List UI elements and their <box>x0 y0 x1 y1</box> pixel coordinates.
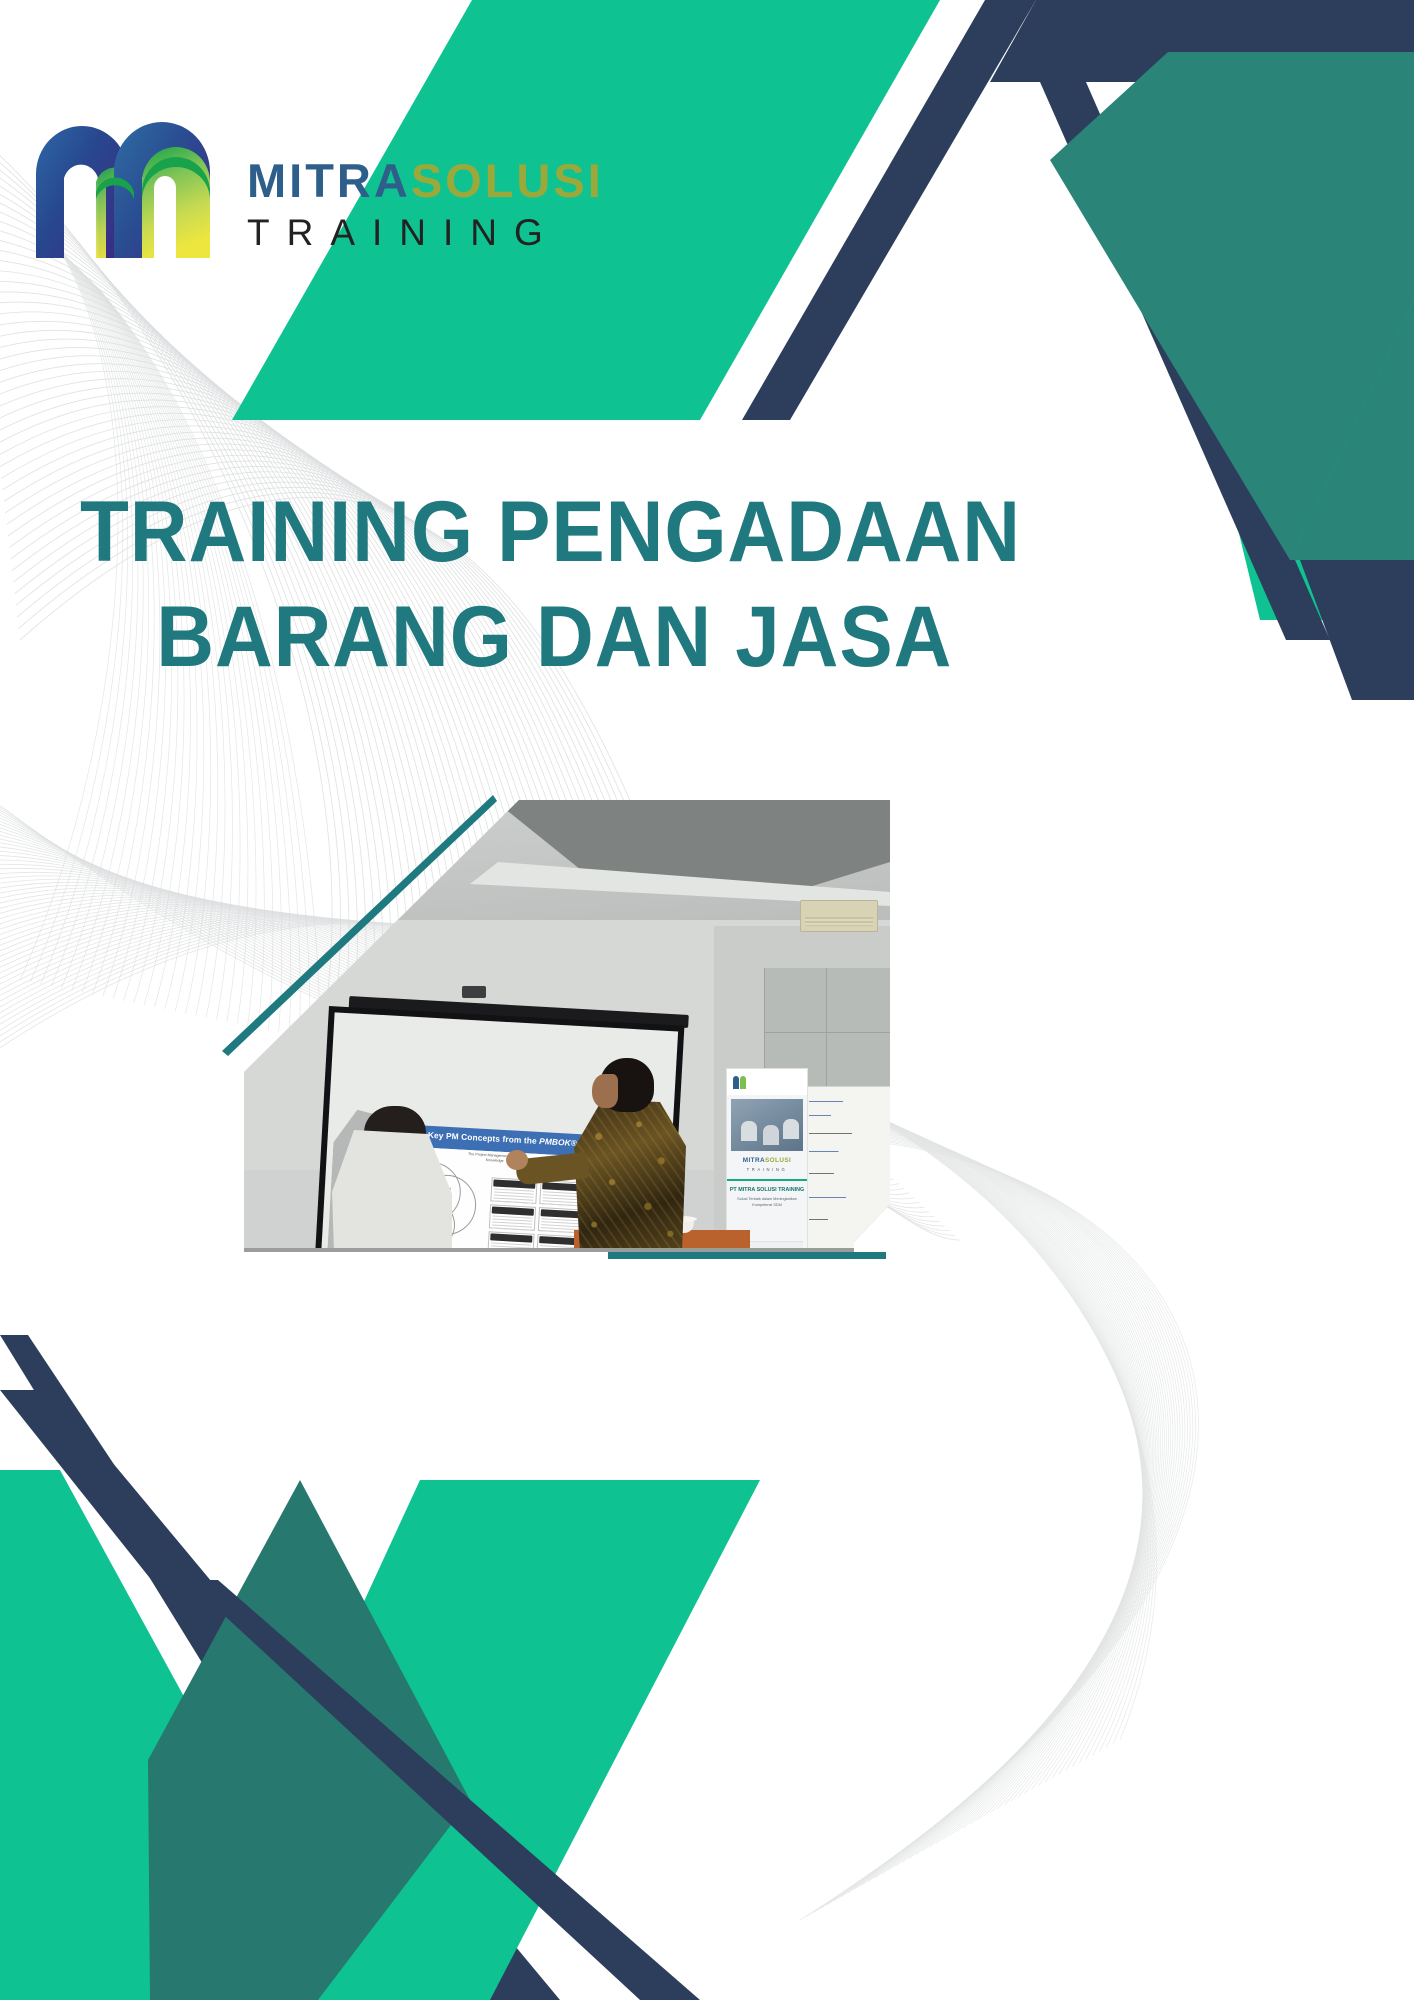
shape-teal-diamond-lower <box>1290 300 1414 560</box>
page-title: TRAINING PENGADAAN BARANG DAN JASA <box>80 480 1030 690</box>
brochure-cover-page: MITRASOLUSI TRAINING TRAINING PENGADAAN … <box>0 0 1414 2000</box>
shape-navy-stripe-1 <box>742 0 1036 420</box>
title-line-1: TRAINING PENGADAAN <box>80 480 964 585</box>
photo-flipchart <box>800 1086 890 1252</box>
double-arch-m-logo-icon <box>30 100 235 260</box>
banner-tagline: Solusi Terbaik dalam Meningkatkan Kompet… <box>731 1197 803 1208</box>
shape-green-wedge-right <box>1175 270 1414 620</box>
shape-teal-diamond <box>1050 52 1414 560</box>
photo-floor <box>244 1248 890 1252</box>
brand-word-mitra: MITRA <box>247 154 411 207</box>
photo-air-conditioner <box>800 900 878 932</box>
shape-navy-stripe-bottom-a <box>0 1335 470 2000</box>
brand-word-solusi: SOLUSI <box>411 154 604 207</box>
slide-grid-cell <box>489 1204 536 1231</box>
banner-logo-icon <box>733 1074 749 1089</box>
shape-green-parallelogram-bottom-left <box>0 1440 300 2000</box>
photo-rollup-banner: MITRASOLUSI TRAINING PT MITRA SOLUSI TRA… <box>726 1068 808 1252</box>
shape-green-bottom-left-2 <box>0 1470 350 2000</box>
banner-headline: PT MITRA SOLUSI TRAINING <box>727 1187 807 1193</box>
photo-presenter-hand <box>506 1150 528 1170</box>
brand-logo: MITRASOLUSI TRAINING <box>30 100 604 260</box>
photo-presenter-face <box>592 1074 618 1108</box>
shape-navy-top-block <box>990 0 1414 82</box>
training-session-photo: Key PM Concepts from the PMBOK® Guide Ge… <box>244 800 890 1252</box>
shape-green-parallelogram-bottom-right <box>180 1480 760 2000</box>
shape-navy-stripe-2 <box>1040 82 1330 640</box>
photo-projector-icon <box>462 986 486 998</box>
photo-presenter-body <box>574 1100 686 1252</box>
banner-photo <box>731 1099 803 1151</box>
banner-brand-sub: TRAINING <box>727 1167 807 1172</box>
training-photo-frame: Key PM Concepts from the PMBOK® Guide Ge… <box>218 790 890 1260</box>
banner-brand: MITRASOLUSI <box>727 1157 807 1164</box>
banner-header <box>727 1069 807 1095</box>
brand-subtitle: TRAINING <box>247 210 604 256</box>
photo-flipchart-writing <box>809 1095 883 1245</box>
banner-divider <box>727 1179 807 1181</box>
shape-navy-stripe-bottom-b <box>0 1390 560 2000</box>
shape-navy-wedge-right <box>1300 560 1414 700</box>
title-line-2: BARANG DAN JASA <box>80 585 964 690</box>
brand-wordmark: MITRASOLUSI <box>247 157 604 204</box>
shape-teal-overlap-bottom <box>148 1480 470 2000</box>
shape-navy-stripe-bottom-c <box>186 1580 700 2000</box>
